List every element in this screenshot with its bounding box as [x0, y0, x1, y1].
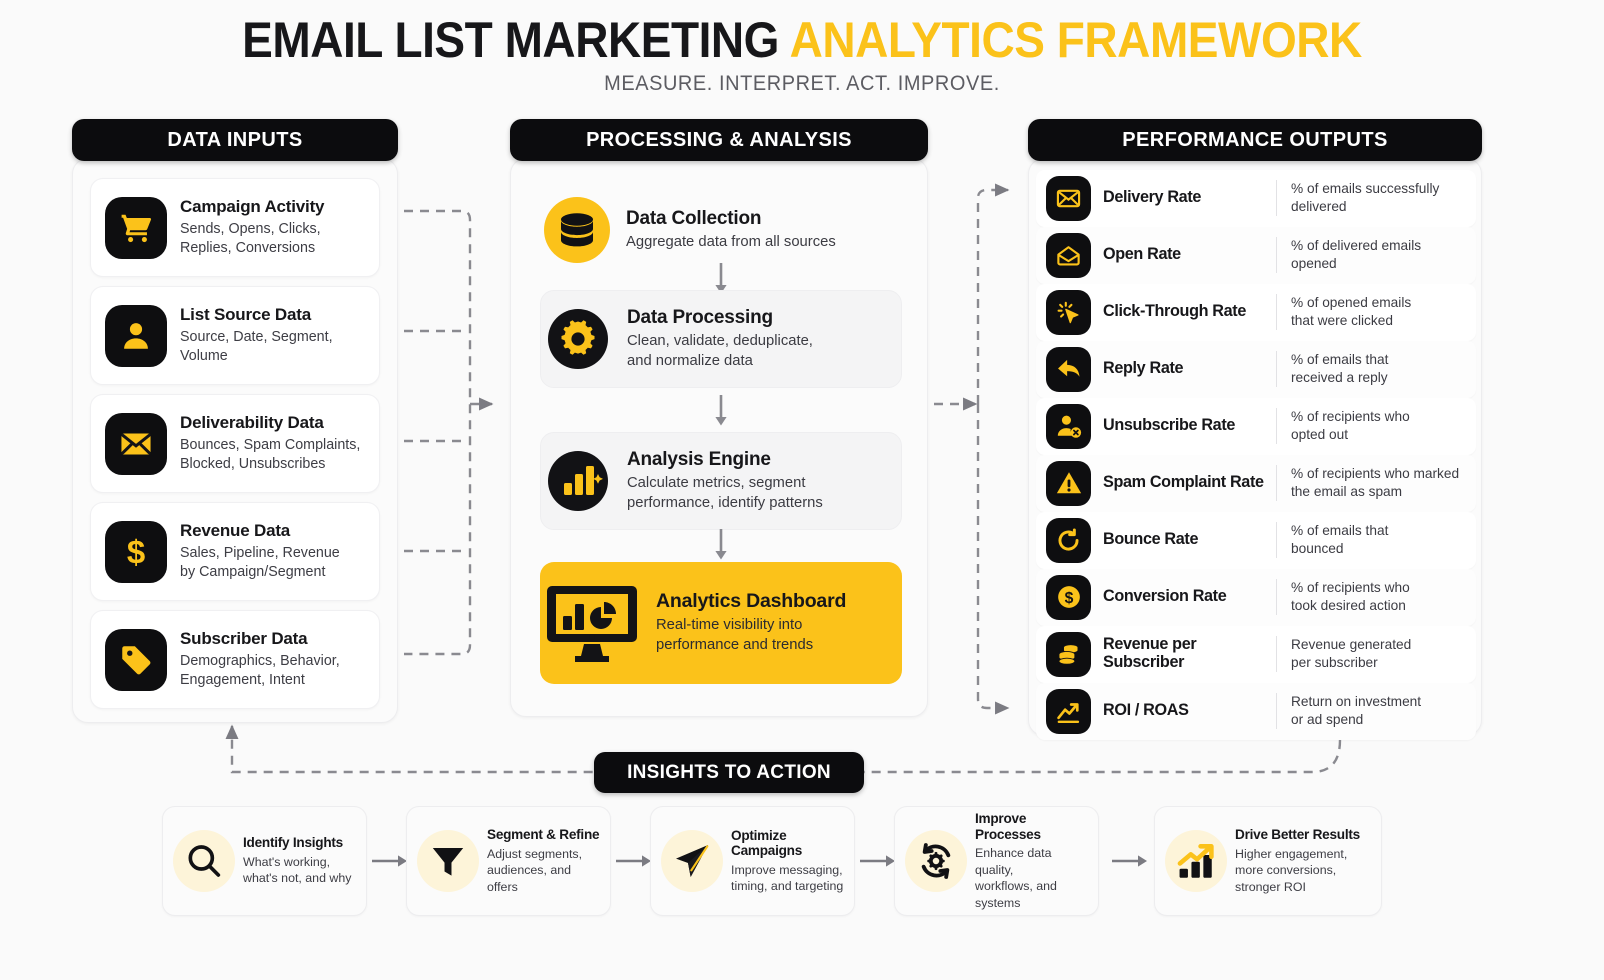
- action-card-segment-refine[interactable]: Segment & Refine Adjust segments,audienc…: [406, 806, 611, 916]
- trend-up-icon: [1046, 689, 1091, 734]
- step-desc: Real-time visibility intoperformance and…: [656, 616, 846, 655]
- funnel-icon: [417, 830, 479, 892]
- coin-stack-icon: [1046, 632, 1091, 677]
- cursor-click-icon: [1046, 290, 1091, 335]
- input-card-deliverability-data[interactable]: Deliverability Data Bounces, Spam Compla…: [90, 394, 380, 493]
- metric-desc: Revenue generatedper subscriber: [1277, 636, 1411, 673]
- metric-desc: % of recipients whotook desired action: [1277, 579, 1410, 616]
- metric-row-delivery-rate[interactable]: Delivery Rate % of emails successfullyde…: [1036, 170, 1476, 227]
- action-card-optimize-campaigns[interactable]: Optimize Campaigns Improve messaging,tim…: [650, 806, 855, 916]
- growth-chart-icon: [1165, 830, 1227, 892]
- input-card-title: List Source Data: [180, 305, 333, 325]
- page-title-accent: ANALYTICS FRAMEWORK: [790, 12, 1362, 68]
- svg-text:$: $: [1064, 590, 1073, 607]
- metric-row-click-through-rate[interactable]: Click-Through Rate % of opened emailstha…: [1036, 284, 1476, 341]
- metric-desc: % of recipients who markedthe email as s…: [1277, 465, 1459, 502]
- metric-name: Spam Complaint Rate: [1091, 474, 1276, 492]
- insights-to-action-badge: INSIGHTS TO ACTION: [594, 752, 864, 793]
- flow-arrow-right-icon: [614, 852, 654, 870]
- metric-row-reply-rate[interactable]: Reply Rate % of emails thatreceived a re…: [1036, 341, 1476, 398]
- refresh-circle-icon: [1046, 518, 1091, 563]
- processing-analysis-heading: PROCESSING & ANALYSIS: [510, 119, 928, 161]
- action-card-desc: What's working,what's not, and why: [243, 854, 351, 887]
- database-icon: [540, 193, 614, 267]
- input-card-title: Revenue Data: [180, 521, 340, 541]
- input-card-campaign-activity[interactable]: Campaign Activity Sends, Opens, Clicks,R…: [90, 178, 380, 277]
- action-card-title: Drive Better Results: [1235, 827, 1360, 843]
- step-title: Analytics Dashboard: [656, 590, 846, 613]
- action-card-drive-better-results[interactable]: Drive Better Results Higher engagement,m…: [1154, 806, 1382, 916]
- flow-arrow-right-icon: [858, 852, 898, 870]
- input-card-title: Campaign Activity: [180, 197, 324, 217]
- input-card-desc: Demographics, Behavior,Engagement, Inten…: [180, 652, 340, 690]
- input-card-subscriber-data[interactable]: Subscriber Data Demographics, Behavior,E…: [90, 610, 380, 709]
- action-card-title: Segment & Refine: [487, 827, 605, 843]
- metric-row-revenue-per-subscriber[interactable]: Revenue per Subscriber Revenue generated…: [1036, 626, 1476, 683]
- magnifier-icon: [173, 830, 235, 892]
- action-card-title: Optimize Campaigns: [731, 828, 849, 859]
- metric-name: Open Rate: [1091, 246, 1276, 264]
- input-card-list-source-data[interactable]: List Source Data Source, Date, Segment,V…: [90, 286, 380, 385]
- dollar-coin-icon: $: [1046, 575, 1091, 620]
- input-card-title: Deliverability Data: [180, 413, 360, 433]
- metric-name: Unsubscribe Rate: [1091, 417, 1276, 435]
- action-card-title: Improve Processes: [975, 811, 1093, 842]
- svg-text:$: $: [127, 534, 145, 570]
- page-subtitle: MEASURE. INTERPRET. ACT. IMPROVE.: [40, 72, 1564, 96]
- step-desc: Aggregate data from all sources: [626, 233, 836, 253]
- shopping-cart-icon: [105, 197, 167, 259]
- metric-desc: % of emails thatreceived a reply: [1277, 351, 1388, 388]
- warning-triangle-icon: [1046, 461, 1091, 506]
- open-envelope-icon: [1046, 233, 1091, 278]
- metric-row-open-rate[interactable]: Open Rate % of delivered emailsopened: [1036, 227, 1476, 284]
- flow-arrow-down-icon: [712, 394, 730, 428]
- input-card-desc: Sales, Pipeline, Revenueby Campaign/Segm…: [180, 544, 340, 582]
- metric-name: Revenue per Subscriber: [1091, 636, 1276, 672]
- metric-desc: % of emails successfullydelivered: [1277, 180, 1439, 217]
- action-card-desc: Adjust segments,audiences, and offers: [487, 846, 605, 895]
- step-analytics-dashboard[interactable]: Analytics Dashboard Real-time visibility…: [540, 562, 902, 684]
- metric-row-bounce-rate[interactable]: Bounce Rate % of emails thatbounced: [1036, 512, 1476, 569]
- metric-desc: % of emails thatbounced: [1277, 522, 1388, 559]
- step-data-processing[interactable]: Data Processing Clean, validate, dedupli…: [540, 290, 902, 388]
- metric-name: Delivery Rate: [1091, 189, 1276, 207]
- wire-right-down: [978, 404, 1008, 708]
- process-gear-icon: [905, 830, 967, 892]
- person-icon: [105, 305, 167, 367]
- metric-desc: Return on investmentor ad spend: [1277, 693, 1421, 730]
- action-card-desc: Improve messaging,timing, and targeting: [731, 862, 849, 895]
- page-title: EMAIL LIST MARKETING ANALYTICS FRAMEWORK: [64, 12, 1540, 70]
- step-title: Analysis Engine: [627, 449, 823, 471]
- metric-name: Conversion Rate: [1091, 588, 1276, 606]
- metric-desc: % of opened emailsthat were clicked: [1277, 294, 1411, 331]
- step-desc: Clean, validate, deduplicate,and normali…: [627, 332, 813, 371]
- infographic-canvas: EMAIL LIST MARKETING ANALYTICS FRAMEWORK…: [0, 0, 1604, 980]
- metric-row-spam-complaint-rate[interactable]: Spam Complaint Rate % of recipients who …: [1036, 455, 1476, 512]
- person-remove-icon: [1046, 404, 1091, 449]
- metric-name: ROI / ROAS: [1091, 702, 1276, 720]
- flow-arrow-right-icon: [1110, 852, 1150, 870]
- bar-chart-icon: [541, 444, 615, 518]
- metric-desc: % of recipients whoopted out: [1277, 408, 1410, 445]
- wire-left-spine: [404, 211, 470, 654]
- metric-row-unsubscribe-rate[interactable]: Unsubscribe Rate % of recipients whoopte…: [1036, 398, 1476, 455]
- dashboard-monitor-icon: [540, 571, 644, 675]
- input-card-desc: Sends, Opens, Clicks,Replies, Conversion…: [180, 220, 324, 258]
- envelope-icon: [105, 413, 167, 475]
- metric-name: Reply Rate: [1091, 360, 1276, 378]
- input-card-desc: Source, Date, Segment,Volume: [180, 328, 333, 366]
- action-card-title: Identify Insights: [243, 835, 351, 851]
- action-card-desc: Enhance data quality,workflows, and syst…: [975, 845, 1093, 911]
- input-card-title: Subscriber Data: [180, 629, 340, 649]
- step-data-collection[interactable]: Data Collection Aggregate data from all …: [540, 186, 902, 274]
- step-title: Data Collection: [626, 208, 836, 230]
- performance-outputs-heading: PERFORMANCE OUTPUTS: [1028, 119, 1482, 161]
- input-card-revenue-data[interactable]: $ Revenue Data Sales, Pipeline, Revenueb…: [90, 502, 380, 601]
- price-tag-icon: [105, 629, 167, 691]
- step-title: Data Processing: [627, 307, 813, 329]
- page-title-dark: EMAIL LIST MARKETING: [242, 12, 779, 68]
- wire-right-up: [978, 190, 1008, 404]
- metric-name: Bounce Rate: [1091, 531, 1276, 549]
- gear-icon: [541, 302, 615, 376]
- data-inputs-heading: DATA INPUTS: [72, 119, 398, 161]
- step-analysis-engine[interactable]: Analysis Engine Calculate metrics, segme…: [540, 432, 902, 530]
- paper-plane-icon: [661, 830, 723, 892]
- metric-desc: % of delivered emailsopened: [1277, 237, 1421, 274]
- step-desc: Calculate metrics, segmentperformance, i…: [627, 474, 823, 513]
- action-card-identify-insights[interactable]: Identify Insights What's working,what's …: [162, 806, 367, 916]
- action-card-desc: Higher engagement,more conversions,stron…: [1235, 846, 1360, 895]
- action-card-improve-processes[interactable]: Improve Processes Enhance data quality,w…: [894, 806, 1099, 916]
- metric-row-roi-roas[interactable]: ROI / ROAS Return on investmentor ad spe…: [1036, 683, 1476, 740]
- metric-name: Click-Through Rate: [1091, 303, 1276, 321]
- flow-arrow-right-icon: [370, 852, 410, 870]
- dollar-sign-icon: $: [105, 521, 167, 583]
- flow-arrow-down-icon: [712, 528, 730, 562]
- reply-arrow-icon: [1046, 347, 1091, 392]
- input-card-desc: Bounces, Spam Complaints,Blocked, Unsubs…: [180, 436, 360, 474]
- envelope-icon: [1046, 176, 1091, 221]
- metric-row-conversion-rate[interactable]: $ Conversion Rate % of recipients whotoo…: [1036, 569, 1476, 626]
